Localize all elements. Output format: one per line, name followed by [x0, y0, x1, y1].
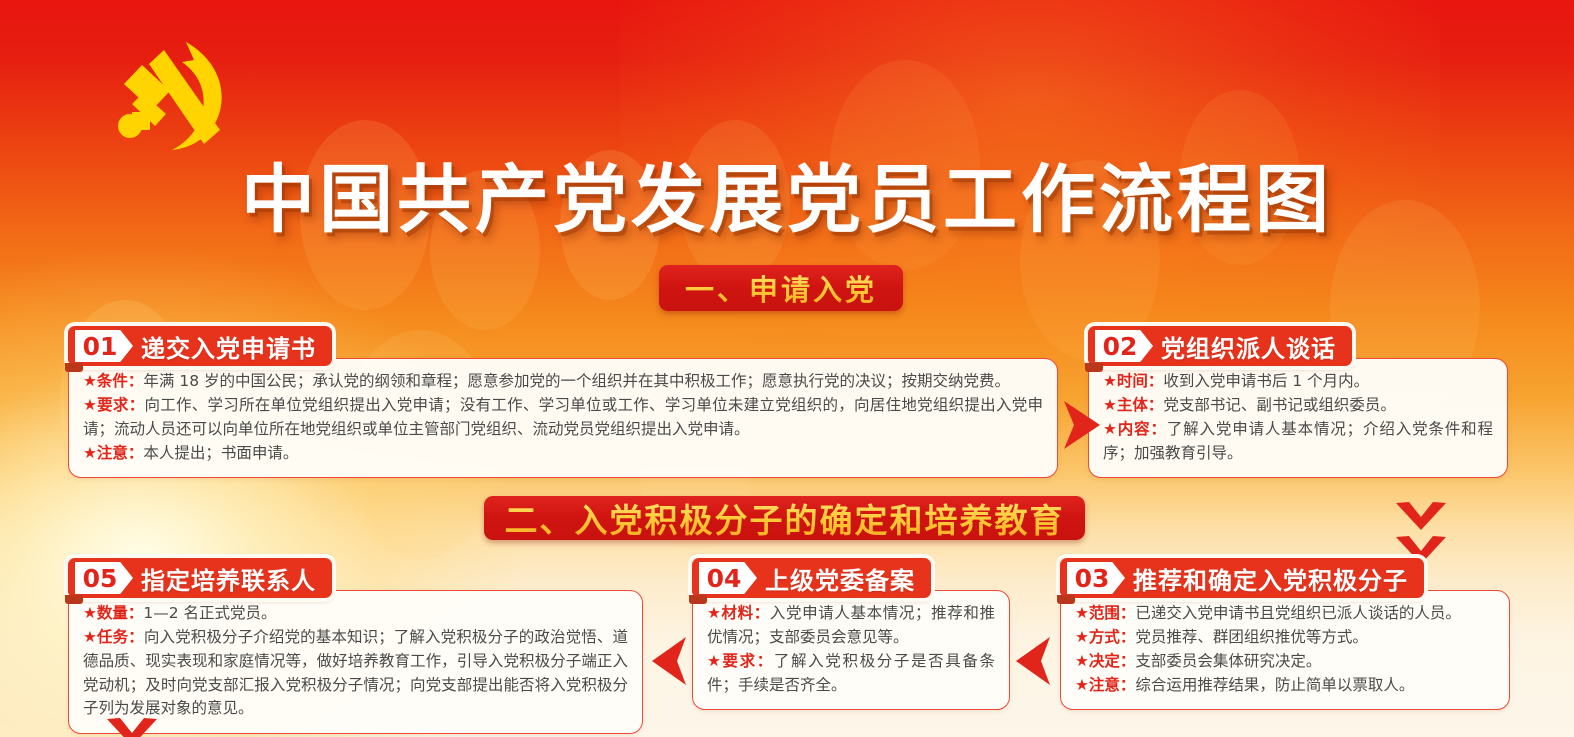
step-card-02-title: 党组织派人谈话: [1161, 329, 1336, 364]
line-label: ★数量：: [83, 604, 143, 622]
step-card-05-title: 指定培养联系人: [141, 561, 316, 596]
line-text: 本人提出；书面申请。: [143, 444, 298, 462]
page-title: 中国共产党发展党员工作流程图: [0, 140, 1574, 247]
step-card-04-line: ★要求：了解入党积极分子是否具备条件；手续是否齐全。: [707, 650, 995, 698]
line-text: 已递交入党申请书且党组织已派人谈话的人员。: [1135, 604, 1461, 622]
step-card-01-body: ★条件：年满 18 岁的中国公民；承认党的纲领和章程；愿意参加党的一个组织并在其…: [68, 358, 1058, 478]
line-label: ★内容：: [1103, 420, 1167, 438]
step-card-05-tab: 05 指定培养联系人: [68, 558, 332, 598]
step-card-04-line: ★材料：入党申请人基本情况；推荐和推优情况；支部委员会意见等。: [707, 602, 995, 650]
step-card-02-number: 02: [1095, 330, 1153, 362]
line-label: ★任务：: [83, 628, 144, 646]
step-card-04[interactable]: 04 上级党委备案 ★材料：入党申请人基本情况；推荐和推优情况；支部委员会意见等…: [692, 558, 1010, 710]
step-card-02-body: ★时间：收到入党申请书后 1 个月内。 ★主体：党支部书记、副书记或组织委员。 …: [1088, 358, 1508, 478]
line-text: 党支部书记、副书记或组织委员。: [1163, 396, 1396, 414]
step-card-03-line: ★注意：综合运用推荐结果，防止简单以票取人。: [1075, 674, 1495, 698]
step-card-03-line: ★范围：已递交入党申请书且党组织已派人谈话的人员。: [1075, 602, 1495, 626]
line-text: 支部委员会集体研究决定。: [1135, 652, 1321, 670]
section-banner-2: 二、入党积极分子的确定和培养教育: [484, 496, 1085, 540]
step-card-05-body: ★数量：1—2 名正式党员。 ★任务：向入党积极分子介绍党的基本知识；了解入党积…: [68, 590, 643, 734]
section-banner-1-label: 一、申请入党: [685, 267, 877, 309]
line-label: ★时间：: [1103, 372, 1163, 390]
step-card-03-body: ★范围：已递交入党申请书且党组织已派人谈话的人员。 ★方式：党员推荐、群团组织推…: [1060, 590, 1510, 710]
step-card-01-title: 递交入党申请书: [141, 329, 316, 364]
line-label: ★要求：: [707, 652, 774, 670]
line-label: ★条件：: [83, 372, 143, 390]
step-card-01-line: ★要求：向工作、学习所在单位党组织提出入党申请；没有工作、学习单位或工作、学习单…: [83, 394, 1043, 442]
infographic-page: 中国共产党发展党员工作流程图 一、申请入党 二、入党积极分子的确定和培养教育 0…: [0, 0, 1574, 737]
step-card-02-tab: 02 党组织派人谈话: [1088, 326, 1352, 366]
line-label: ★要求：: [83, 396, 144, 414]
line-text: 向入党积极分子介绍党的基本知识；了解入党积极分子的政治觉悟、道德品质、现实表现和…: [83, 628, 628, 718]
line-label: ★主体：: [1103, 396, 1163, 414]
step-card-03-tab: 03 推荐和确定入党积极分子: [1060, 558, 1424, 598]
step-card-03-title: 推荐和确定入党积极分子: [1133, 561, 1408, 596]
step-card-04-number: 04: [699, 562, 757, 594]
section-banner-1: 一、申请入党: [659, 265, 903, 311]
step-card-05-line: ★数量：1—2 名正式党员。: [83, 602, 628, 626]
step-card-02-line: ★内容：了解入党申请人基本情况；介绍入党条件和程序；加强教育引导。: [1103, 418, 1493, 466]
line-label: ★注意：: [83, 444, 143, 462]
line-text: 党员推荐、群团组织推优等方式。: [1135, 628, 1368, 646]
line-label: ★材料：: [707, 604, 770, 622]
line-text: 收到入党申请书后 1 个月内。: [1163, 372, 1369, 390]
step-card-03-line: ★方式：党员推荐、群团组织推优等方式。: [1075, 626, 1495, 650]
line-text: 综合运用推荐结果，防止简单以票取人。: [1135, 676, 1414, 694]
step-card-01-tab: 01 递交入党申请书: [68, 326, 332, 366]
step-card-02[interactable]: 02 党组织派人谈话 ★时间：收到入党申请书后 1 个月内。 ★主体：党支部书记…: [1088, 326, 1508, 478]
step-card-01-line: ★条件：年满 18 岁的中国公民；承认党的纲领和章程；愿意参加党的一个组织并在其…: [83, 370, 1043, 394]
line-label: ★注意：: [1075, 676, 1135, 694]
step-card-01[interactable]: 01 递交入党申请书 ★条件：年满 18 岁的中国公民；承认党的纲领和章程；愿意…: [68, 326, 1058, 478]
line-label: ★决定：: [1075, 652, 1135, 670]
line-label: ★范围：: [1075, 604, 1135, 622]
step-card-03-number: 03: [1067, 562, 1125, 594]
step-card-02-line: ★时间：收到入党申请书后 1 个月内。: [1103, 370, 1493, 394]
line-text: 向工作、学习所在单位党组织提出入党申请；没有工作、学习单位或工作、学习单位未建立…: [83, 396, 1043, 438]
step-card-02-line: ★主体：党支部书记、副书记或组织委员。: [1103, 394, 1493, 418]
step-card-01-number: 01: [75, 330, 133, 362]
step-card-01-line: ★注意：本人提出；书面申请。: [83, 442, 1043, 466]
line-text: 年满 18 岁的中国公民；承认党的纲领和章程；愿意参加党的一个组织并在其中积极工…: [143, 372, 1010, 390]
step-card-03[interactable]: 03 推荐和确定入党积极分子 ★范围：已递交入党申请书且党组织已派人谈话的人员。…: [1060, 558, 1510, 710]
step-card-03-line: ★决定：支部委员会集体研究决定。: [1075, 650, 1495, 674]
step-card-05-line: ★任务：向入党积极分子介绍党的基本知识；了解入党积极分子的政治觉悟、道德品质、现…: [83, 626, 628, 721]
line-text: 1—2 名正式党员。: [143, 604, 276, 622]
step-card-04-title: 上级党委备案: [765, 561, 915, 596]
step-card-04-body: ★材料：入党申请人基本情况；推荐和推优情况；支部委员会意见等。 ★要求：了解入党…: [692, 590, 1010, 710]
step-card-05[interactable]: 05 指定培养联系人 ★数量：1—2 名正式党员。 ★任务：向入党积极分子介绍党…: [68, 558, 643, 734]
step-card-04-tab: 04 上级党委备案: [692, 558, 931, 598]
step-card-05-number: 05: [75, 562, 133, 594]
section-banner-2-label: 二、入党积极分子的确定和培养教育: [505, 494, 1065, 542]
line-label: ★方式：: [1075, 628, 1135, 646]
